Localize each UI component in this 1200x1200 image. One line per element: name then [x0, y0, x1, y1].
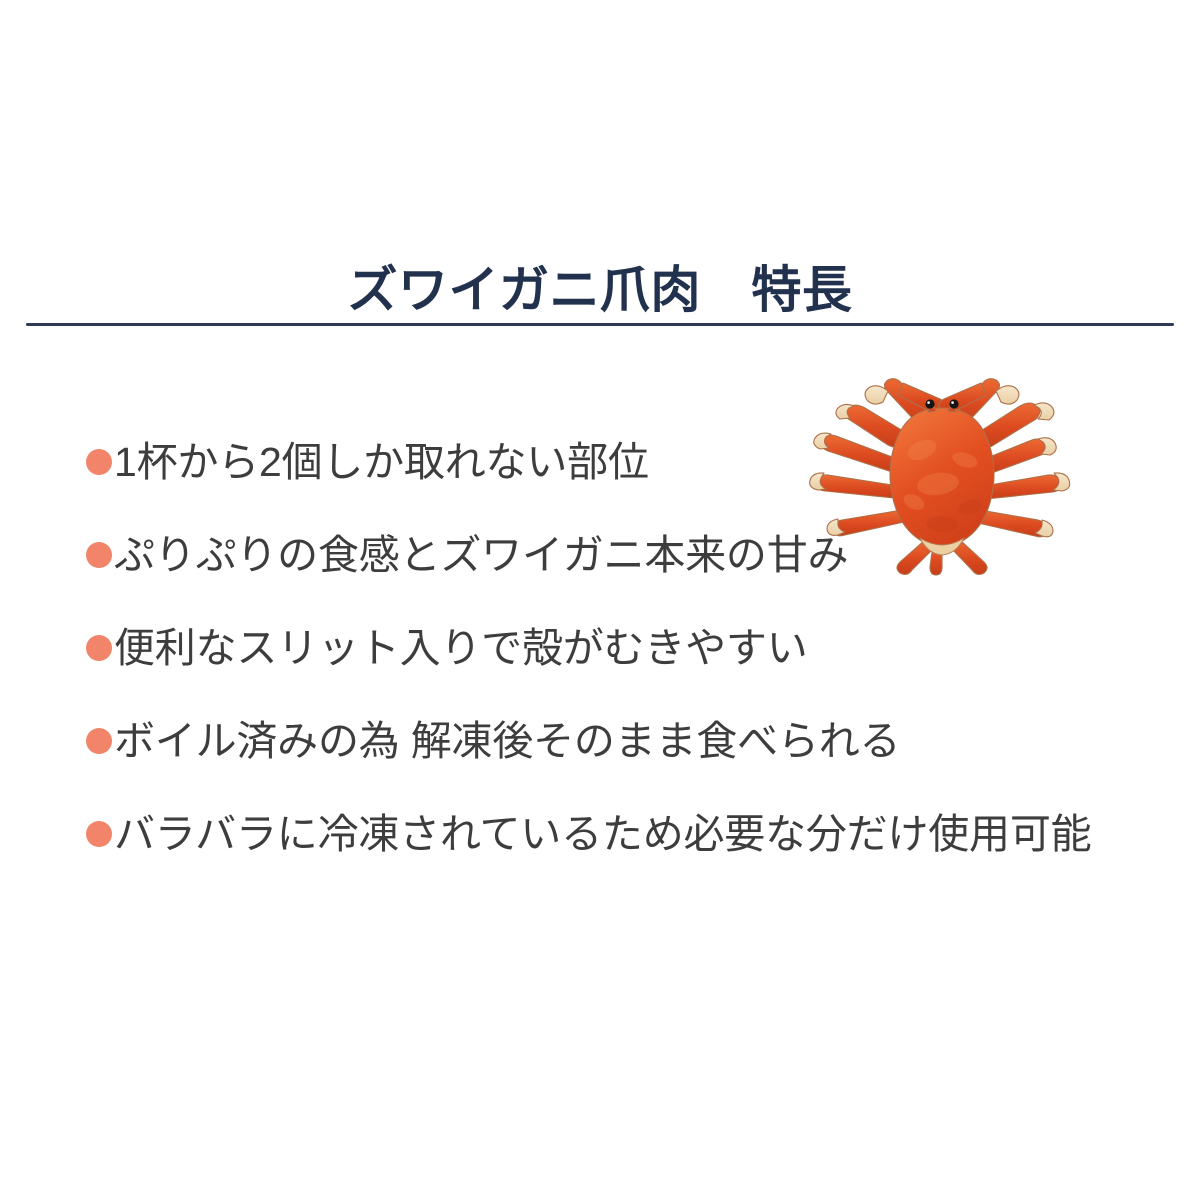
feature-text: ボイル済みの為 解凍後そのまま食べられる	[114, 716, 1146, 766]
bullet-dot-icon	[86, 635, 112, 661]
feature-text: バラバラに冷凍されているため必要な分だけ使用可能	[114, 809, 1146, 859]
bullet-dot-icon	[86, 542, 112, 568]
list-item: ボイル済みの為 解凍後そのまま食べられる	[86, 716, 1146, 809]
title-divider-rule	[26, 323, 1174, 326]
crab-icon	[770, 362, 1110, 582]
title-block: ズワイガニ爪肉 特長	[0, 228, 1200, 351]
bullet-dot-icon	[86, 821, 112, 847]
bullet-dot-icon	[86, 728, 112, 754]
feature-text: 便利なスリット入りで殻がむきやすい	[114, 623, 1146, 673]
slide-canvas: ズワイガニ爪肉 特長 1杯から2個しか取れない部位 ぷりぷりの食感とズワイガニ本…	[0, 0, 1200, 1200]
snow-crab-illustration	[770, 362, 1110, 582]
bullet-dot-icon	[86, 449, 112, 475]
page-title: ズワイガニ爪肉 特長	[348, 262, 853, 318]
list-item: バラバラに冷凍されているため必要な分だけ使用可能	[86, 809, 1146, 902]
list-item: 便利なスリット入りで殻がむきやすい	[86, 623, 1146, 716]
